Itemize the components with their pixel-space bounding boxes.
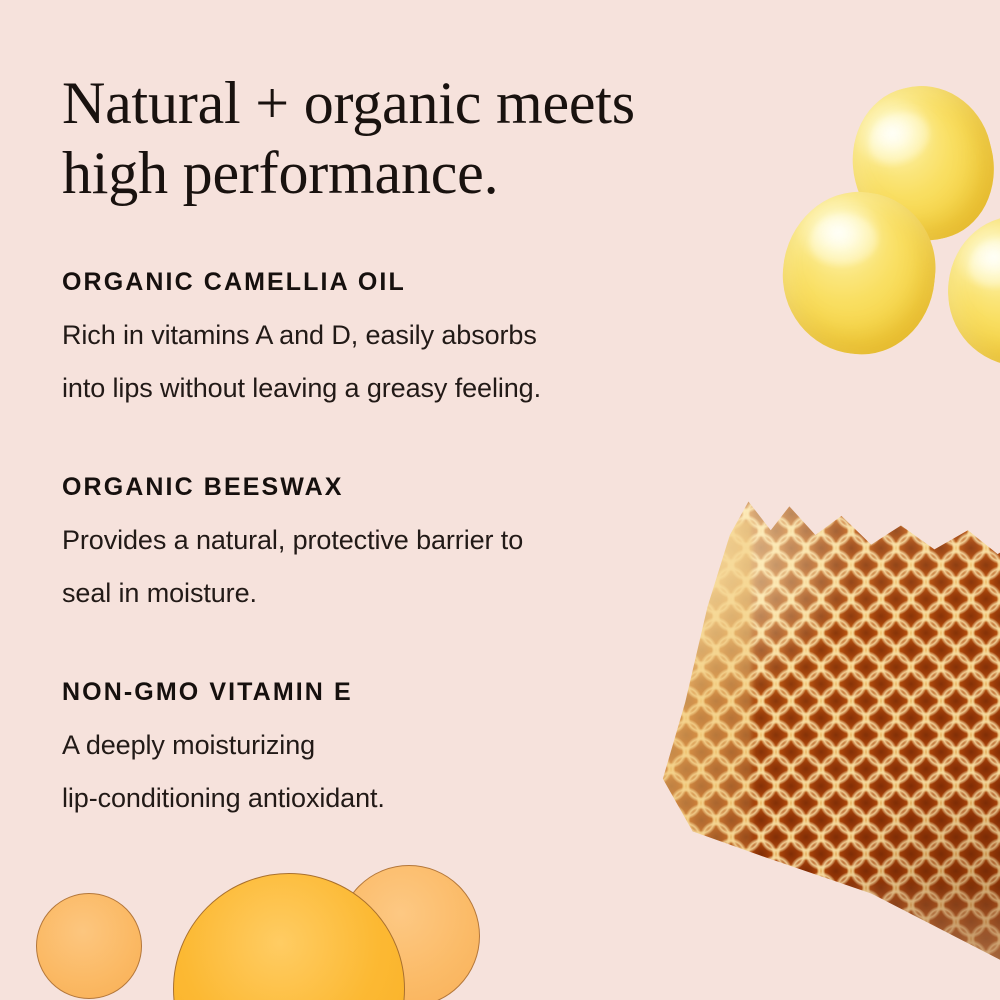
benefit-item-camellia-oil: ORGANIC CAMELLIA OIL Rich in vitamins A …: [62, 268, 762, 416]
benefit-list: ORGANIC CAMELLIA OIL Rich in vitamins A …: [62, 268, 762, 826]
page-headline: Natural + organic meets high performance…: [62, 68, 742, 208]
benefit-description: A deeply moisturizing lip-conditioning a…: [62, 719, 762, 826]
benefit-item-vitamin-e: NON-GMO VITAMIN E A deeply moisturizing …: [62, 678, 762, 826]
benefit-item-beeswax: ORGANIC BEESWAX Provides a natural, prot…: [62, 473, 762, 621]
benefit-title: ORGANIC CAMELLIA OIL: [62, 268, 762, 297]
text-layer: Natural + organic meets high performance…: [0, 0, 1000, 1000]
benefit-description: Provides a natural, protective barrier t…: [62, 514, 762, 621]
product-benefits-poster: Natural + organic meets high performance…: [0, 0, 1000, 1000]
benefit-description: Rich in vitamins A and D, easily absorbs…: [62, 309, 762, 416]
benefit-title: ORGANIC BEESWAX: [62, 473, 762, 502]
benefit-title: NON-GMO VITAMIN E: [62, 678, 762, 707]
